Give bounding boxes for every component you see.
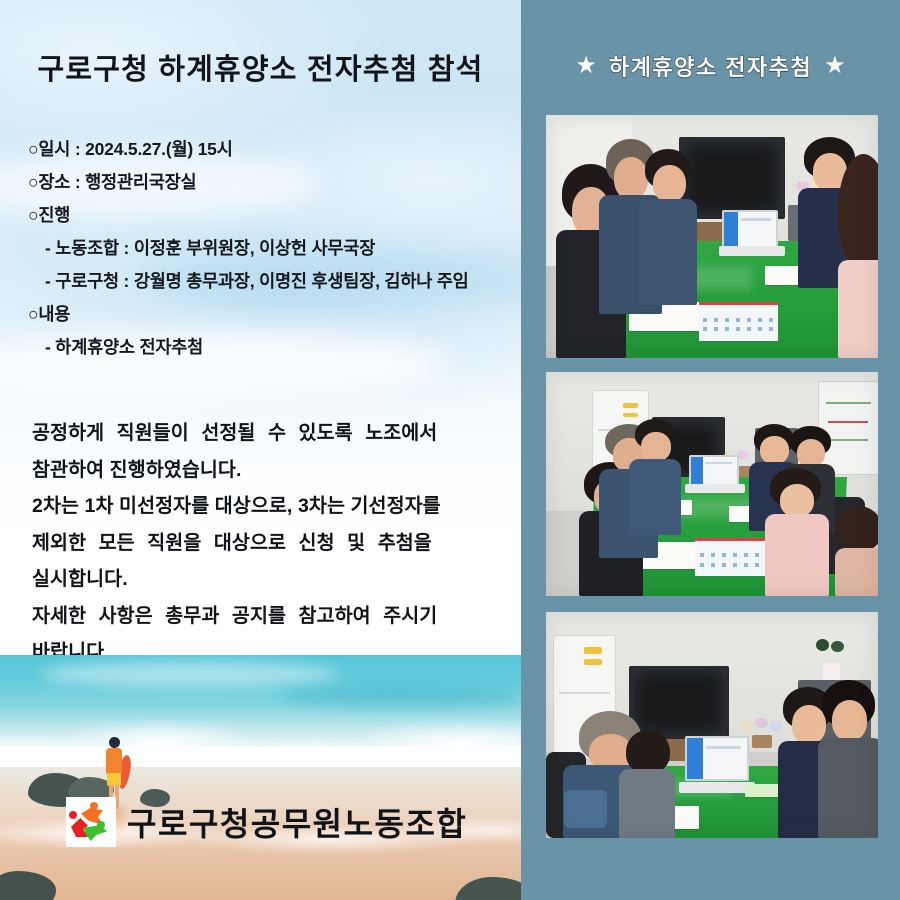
- head: [653, 165, 686, 202]
- hair: [835, 506, 878, 551]
- body-line-2: 참관하여 진행하였습니다.: [32, 452, 510, 489]
- chart-sheet: [695, 538, 768, 576]
- photo-meeting-3: [546, 612, 878, 838]
- fridge-badge-2: [623, 413, 637, 418]
- laptop-base: [719, 246, 785, 256]
- union-logo-icon: [66, 797, 116, 847]
- laptop-screen: [685, 736, 748, 781]
- chart-dotrow-1: [700, 553, 764, 557]
- body-line-1: 공정하게 직원들이 선정될 수 있도록 노조에서: [32, 415, 510, 452]
- body: [629, 459, 681, 536]
- fridge-badge-2: [584, 659, 602, 665]
- hair: [626, 730, 670, 773]
- fridge-badge-1: [584, 647, 602, 654]
- laptop-screen: [722, 210, 778, 249]
- photo-2-scene: [546, 372, 878, 596]
- star-right-icon: ★: [824, 54, 846, 78]
- bloom-2: [755, 718, 768, 728]
- map-line-2: [828, 421, 868, 423]
- sea-texture-2: [280, 685, 520, 707]
- body: [639, 199, 697, 305]
- union-footer: 구로구청공무원노동조합: [66, 797, 467, 847]
- chart-dotrow-1: [703, 318, 773, 322]
- photo-3-scene: [546, 612, 878, 838]
- body: [818, 738, 878, 838]
- body-line-5: 실시합니다.: [32, 561, 510, 598]
- bloom-1: [740, 721, 753, 731]
- chart-dotrow-2: [703, 327, 773, 331]
- chart-dotrow-2: [700, 563, 764, 567]
- logo-figure-red-head: [69, 811, 77, 819]
- left-content-panel: 구로구청 하계휴양소 전자추첨 참석 ○일시 : 2024.5.27.(월) 1…: [0, 0, 521, 900]
- star-left-icon: ★: [575, 54, 597, 78]
- detail-row-progress: ○진행: [28, 199, 508, 232]
- body: [838, 260, 878, 358]
- chart-sheet: [699, 302, 779, 341]
- body-line-4: 제외한 모든 직원을 대상으로 신청 및 추첨을: [32, 525, 510, 562]
- vase-body: [752, 735, 772, 747]
- hair: [838, 154, 878, 268]
- sea-texture-1: [40, 661, 340, 687]
- plant-leaf-1: [816, 639, 830, 651]
- person-left-3: [639, 149, 702, 305]
- poster-root: 구로구청 하계휴양소 전자추첨 참석 ○일시 : 2024.5.27.(월) 1…: [0, 0, 900, 900]
- head: [641, 432, 670, 461]
- person-left-3: [629, 419, 685, 535]
- person-right-2: [838, 154, 878, 358]
- page-title: 구로구청 하계휴양소 전자추첨 참석: [0, 46, 521, 88]
- laptop-base: [679, 782, 755, 793]
- bloom-2: [737, 450, 748, 460]
- person-right-4: [835, 506, 878, 596]
- body-line-3: 2차는 1차 미선정자를 대상으로, 3차는 기선정자를: [32, 488, 510, 525]
- beach-illustration: [0, 655, 521, 900]
- detail-row-place: ○장소 : 행정관리국장실: [28, 166, 508, 199]
- laptop-base: [685, 484, 745, 493]
- photo-1-scene: [546, 115, 878, 358]
- person-right-2: [818, 680, 878, 838]
- surfer-torso: [106, 748, 122, 774]
- body-line-6: 자세한 사항은 총무과 공지를 참고하여 주시기: [32, 598, 510, 635]
- person-right-3: [765, 468, 831, 596]
- head: [780, 484, 815, 517]
- plant-pot: [823, 663, 841, 680]
- photo-meeting-2: [546, 372, 878, 596]
- detail-row-union: - 노동조합 : 이정훈 부위원장, 이상헌 사무국장: [28, 232, 508, 265]
- detail-row-office: - 구로구청 : 강월명 총무과장, 이명진 후생팀장, 김하나 주임: [28, 265, 508, 298]
- detail-row-date: ○일시 : 2024.5.27.(월) 15시: [28, 133, 508, 166]
- surfer-head: [109, 737, 120, 748]
- person-left-2: [619, 730, 679, 838]
- body: [835, 548, 878, 596]
- photo-meeting-1: [546, 115, 878, 358]
- details-list: ○일시 : 2024.5.27.(월) 15시 ○장소 : 행정관리국장실 ○진…: [28, 133, 508, 364]
- detail-row-content: ○내용: [28, 298, 508, 331]
- paper-2: [745, 784, 782, 798]
- right-panel-header-text: 하계휴양소 전자추첨: [609, 50, 812, 82]
- detail-row-lottery: - 하계휴양소 전자추첨: [28, 331, 508, 364]
- union-name-label: 구로구청공무원노동조합: [127, 799, 467, 845]
- laptop-screen: [689, 455, 739, 486]
- body: [619, 769, 675, 838]
- decor-plant: [812, 639, 852, 680]
- fridge-badge-1: [623, 403, 637, 409]
- plant-leaf-2: [831, 641, 845, 652]
- right-panel-header: ★ 하계휴양소 전자추첨 ★: [521, 50, 900, 82]
- arm: [564, 790, 607, 828]
- head: [832, 700, 868, 741]
- map-line-1: [826, 402, 871, 404]
- head: [797, 439, 826, 467]
- body: [765, 514, 829, 596]
